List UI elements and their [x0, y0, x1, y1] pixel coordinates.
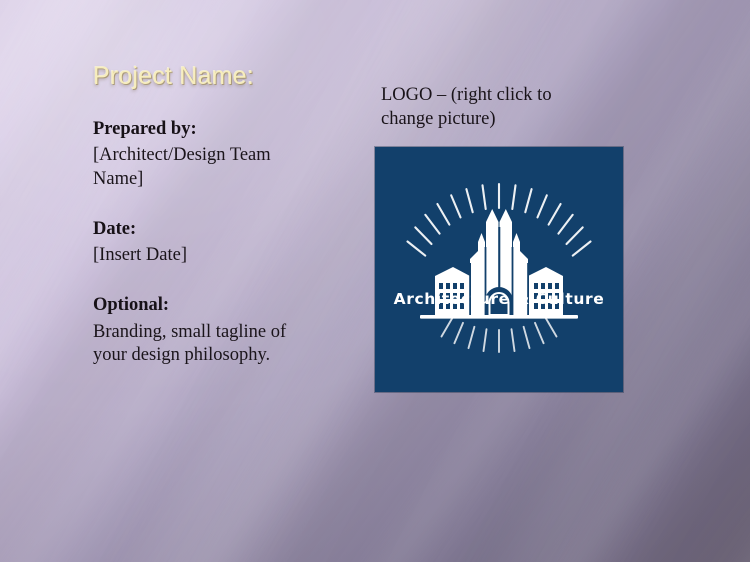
logo-caption-line1: LOGO – (right click to: [381, 84, 596, 108]
optional-value-line1: Branding, small tagline of: [93, 321, 348, 345]
left-text-column: Project Name: Prepared by: [Architect/De…: [93, 62, 348, 368]
date-value: [Insert Date]: [93, 244, 348, 268]
city-skyline-sunburst-icon: [375, 147, 623, 392]
prepared-by-value-line1: [Architect/Design Team: [93, 144, 348, 168]
prepared-by-block[interactable]: Prepared by: [Architect/Design Team Name…: [93, 118, 348, 192]
logo-wordmark: Architecture & Culture: [375, 290, 623, 308]
prepared-by-label: Prepared by:: [93, 118, 348, 142]
sunburst-rays-bottom: [442, 318, 557, 353]
optional-block[interactable]: Optional: Branding, small tagline of you…: [93, 294, 348, 368]
optional-label: Optional:: [93, 294, 348, 318]
date-block[interactable]: Date: [Insert Date]: [93, 218, 348, 268]
optional-value-line2: your design philosophy.: [93, 344, 348, 368]
page-title[interactable]: Project Name:: [93, 62, 348, 91]
logo-caption-block[interactable]: LOGO – (right click to change picture): [381, 84, 631, 131]
date-label: Date:: [93, 218, 348, 242]
logo-caption-line2: change picture): [381, 108, 596, 132]
slide-canvas: Project Name: Prepared by: [Architect/De…: [0, 0, 750, 562]
logo-image-placeholder[interactable]: Architecture & Culture: [375, 147, 623, 392]
logo-artwork: [375, 147, 623, 392]
prepared-by-value-line2: Name]: [93, 168, 348, 192]
